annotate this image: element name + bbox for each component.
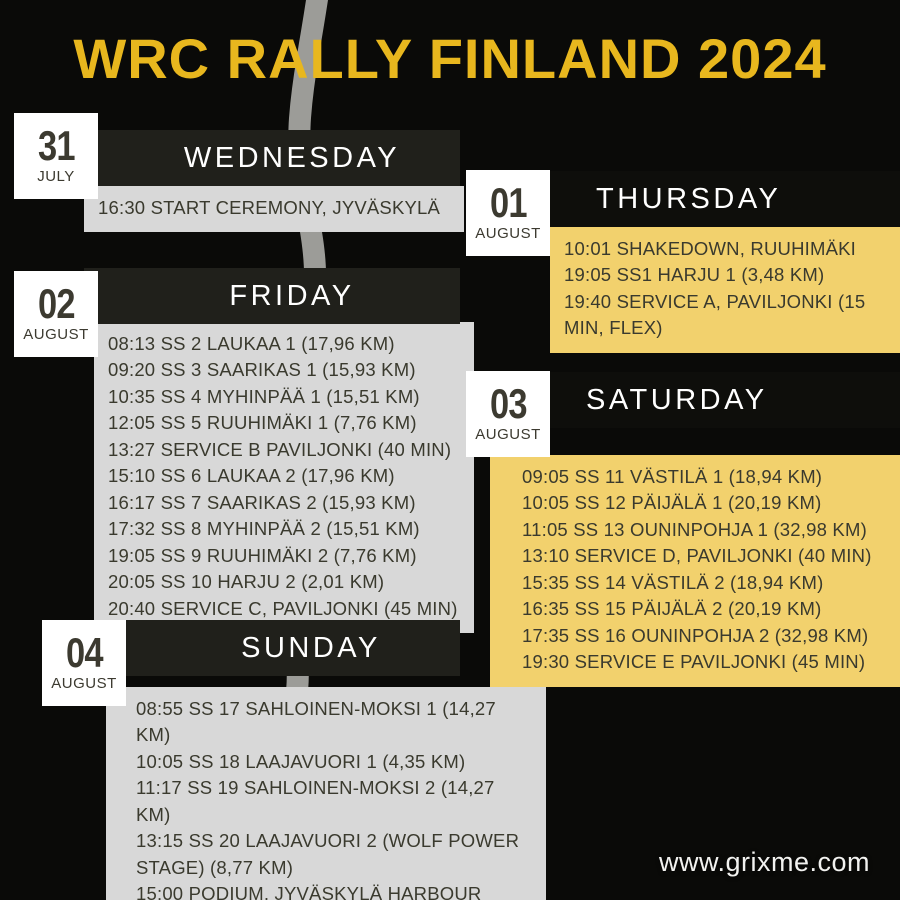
weekday-label: FRIDAY — [229, 280, 354, 313]
schedule-entry: 13:10 SERVICE D, PAVILJONKI (40 MIN) — [522, 543, 886, 569]
website-watermark: www.grixme.com — [659, 847, 870, 878]
schedule-panel-thursday: 10:01 SHAKEDOWN, RUUHIMÄKI 19:05 SS1 HAR… — [550, 227, 900, 353]
schedule-entry: 16:35 SS 15 PÄIJÄLÄ 2 (20,19 KM) — [522, 596, 886, 622]
day-header-wednesday: WEDNESDAY — [84, 130, 460, 186]
weekday-label: SUNDAY — [241, 632, 381, 665]
date-badge-number: 04 — [66, 633, 103, 672]
schedule-entry: 11:17 SS 19 SAHLOINEN-MOKSI 2 (14,27 KM) — [136, 775, 532, 828]
date-badge-thursday: 01 AUGUST — [466, 170, 550, 256]
date-badge-friday: 02 AUGUST — [14, 271, 98, 357]
schedule-entry: 15:10 SS 6 LAUKAA 2 (17,96 KM) — [108, 463, 460, 489]
date-badge-month: AUGUST — [475, 426, 541, 443]
schedule-entry: 19:05 SS1 HARJU 1 (3,48 KM) — [564, 262, 886, 288]
date-badge-sunday: 04 AUGUST — [42, 620, 126, 706]
day-header-thursday: THURSDAY — [550, 171, 900, 227]
schedule-entry: 12:05 SS 5 RUUHIMÄKI 1 (7,76 KM) — [108, 410, 460, 436]
schedule-entry: 10:35 SS 4 MYHINPÄÄ 1 (15,51 KM) — [108, 384, 460, 410]
schedule-entry: 10:05 SS 18 LAAJAVUORI 1 (4,35 KM) — [136, 749, 532, 775]
weekday-label: WEDNESDAY — [184, 142, 400, 175]
date-badge-number: 31 — [38, 126, 75, 165]
schedule-entry: 15:00 PODIUM, JYVÄSKYLÄ HARBOUR — [136, 881, 532, 900]
schedule-entry: 19:30 SERVICE E PAVILJONKI (45 MIN) — [522, 649, 886, 675]
date-badge-month: AUGUST — [51, 675, 117, 692]
schedule-entry: 16:30 START CEREMONY, JYVÄSKYLÄ — [98, 195, 450, 221]
schedule-entry: 08:55 SS 17 SAHLOINEN-MOKSI 1 (14,27 KM) — [136, 696, 532, 749]
date-badge-month: AUGUST — [475, 225, 541, 242]
date-badge-number: 02 — [38, 284, 75, 323]
schedule-entry: 10:05 SS 12 PÄIJÄLÄ 1 (20,19 KM) — [522, 490, 886, 516]
schedule-panel-wednesday: 16:30 START CEREMONY, JYVÄSKYLÄ — [84, 186, 464, 232]
day-header-friday: FRIDAY — [84, 268, 460, 324]
weekday-label: THURSDAY — [596, 183, 781, 216]
schedule-entry: 19:05 SS 9 RUUHIMÄKI 2 (7,76 KM) — [108, 543, 460, 569]
schedule-panel-friday: 08:13 SS 2 LAUKAA 1 (17,96 KM) 09:20 SS … — [94, 322, 474, 633]
date-badge-saturday: 03 AUGUST — [466, 371, 550, 457]
schedule-entry: 09:05 SS 11 VÄSTILÄ 1 (18,94 KM) — [522, 464, 886, 490]
schedule-panel-saturday: 09:05 SS 11 VÄSTILÄ 1 (18,94 KM) 10:05 S… — [490, 455, 900, 687]
schedule-entry: 17:35 SS 16 OUNINPOHJA 2 (32,98 KM) — [522, 623, 886, 649]
date-badge-number: 03 — [490, 384, 527, 423]
schedule-entry: 20:05 SS 10 HARJU 2 (2,01 KM) — [108, 569, 460, 595]
schedule-entry: 08:13 SS 2 LAUKAA 1 (17,96 KM) — [108, 331, 460, 357]
schedule-entry: 10:01 SHAKEDOWN, RUUHIMÄKI — [564, 236, 886, 262]
schedule-entry: 13:27 SERVICE B PAVILJONKI (40 MIN) — [108, 437, 460, 463]
schedule-panel-sunday: 08:55 SS 17 SAHLOINEN-MOKSI 1 (14,27 KM)… — [106, 687, 546, 900]
schedule-entry: 17:32 SS 8 MYHINPÄÄ 2 (15,51 KM) — [108, 516, 460, 542]
schedule-entry: 15:35 SS 14 VÄSTILÄ 2 (18,94 KM) — [522, 570, 886, 596]
day-header-saturday: SATURDAY — [550, 372, 900, 428]
schedule-entry: 20:40 SERVICE C, PAVILJONKI (45 MIN) — [108, 596, 460, 622]
schedule-entry: 09:20 SS 3 SAARIKAS 1 (15,93 KM) — [108, 357, 460, 383]
date-badge-month: JULY — [37, 168, 75, 185]
date-badge-number: 01 — [490, 183, 527, 222]
date-badge-wednesday: 31 JULY — [14, 113, 98, 199]
schedule-entry: 19:40 SERVICE A, PAVILJONKI (15 MIN, FLE… — [564, 289, 886, 342]
page-title: WRC RALLY FINLAND 2024 — [0, 26, 900, 91]
schedule-entry: 11:05 SS 13 OUNINPOHJA 1 (32,98 KM) — [522, 517, 886, 543]
poster-root: WRC RALLY FINLAND 2024 31 JULY WEDNESDAY… — [0, 0, 900, 900]
schedule-entry: 13:15 SS 20 LAAJAVUORI 2 (WOLF POWER STA… — [136, 828, 532, 881]
schedule-entry: 16:17 SS 7 SAARIKAS 2 (15,93 KM) — [108, 490, 460, 516]
date-badge-month: AUGUST — [23, 326, 89, 343]
day-header-sunday: SUNDAY — [126, 620, 460, 676]
weekday-label: SATURDAY — [586, 384, 768, 417]
